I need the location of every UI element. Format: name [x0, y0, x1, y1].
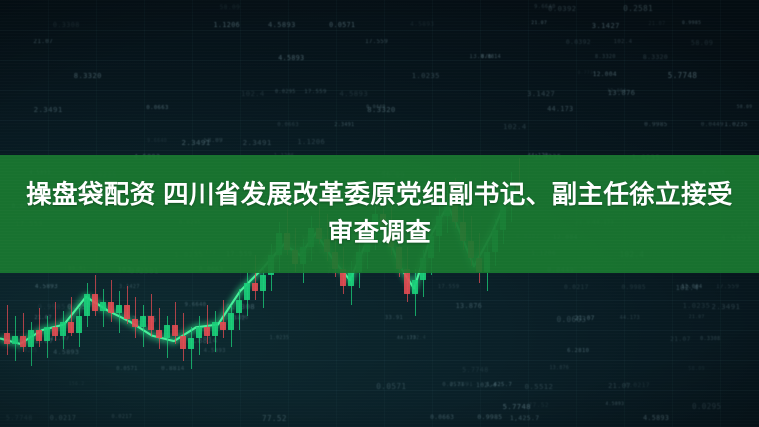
candle-body	[252, 283, 258, 291]
candle-body	[212, 322, 218, 336]
market-data-value: 8.3320	[643, 55, 668, 61]
market-data-value: 0.2581	[623, 5, 653, 13]
candle-body	[116, 305, 122, 313]
candle-body	[4, 333, 10, 344]
market-data-value: 1.1206	[214, 22, 241, 29]
market-data-value: 9.6640	[147, 139, 167, 144]
candle-body	[260, 275, 266, 292]
candle-body	[124, 305, 130, 319]
market-data-value: 44.173	[547, 106, 573, 113]
market-data-value: 1.1206	[297, 139, 325, 146]
news-banner-image: 58.099.66400.03920.25811.12063.14270.057…	[0, 0, 759, 427]
candle-body	[68, 322, 74, 333]
market-data-value: 4.5893	[606, 403, 625, 408]
market-data-value: 58.09	[691, 40, 713, 47]
market-data-value: 13.876	[549, 367, 569, 372]
market-data-value: 1.0235	[412, 72, 440, 79]
market-data-value: 0.0571	[329, 22, 355, 29]
candle-body	[44, 327, 50, 341]
market-data-value: 0.0392	[548, 5, 576, 12]
market-data-value: 17.559	[365, 40, 388, 46]
candle-wick	[223, 300, 224, 339]
market-data-value: 13.876	[469, 55, 492, 61]
market-data-value: 21.07	[575, 316, 595, 322]
market-data-value: 5.7748	[668, 72, 698, 80]
candle-body	[36, 330, 42, 341]
candle-body	[76, 316, 82, 333]
candle-body	[180, 336, 186, 350]
market-data-value: 8.3320	[595, 55, 616, 60]
market-data-value: 4.5893	[410, 22, 434, 28]
market-data-value: 12.004	[681, 285, 702, 290]
market-data-value: 0.0449	[701, 123, 724, 129]
market-data-value: 4.5893	[268, 22, 296, 29]
candle-body	[204, 327, 210, 335]
market-data-value: 0.0295	[275, 90, 296, 95]
candle-body	[220, 322, 226, 330]
market-data-value: 0.0295	[692, 403, 722, 411]
market-data-value: 0.3308	[53, 22, 80, 29]
market-data-value: 1.0235	[683, 303, 711, 310]
market-data-value: 21.07	[689, 316, 705, 321]
candle-body	[92, 294, 98, 311]
candle-body	[156, 330, 162, 338]
market-data-value: 1.0235	[724, 123, 747, 129]
market-data-value: 2.3491	[181, 139, 210, 146]
market-data-value: 0.3308	[700, 337, 720, 342]
candle-body	[236, 300, 242, 314]
market-data-value: 102.4	[241, 90, 265, 97]
market-data-value: 0.0217	[564, 285, 589, 291]
candle-body	[84, 294, 90, 316]
candle-body	[196, 327, 202, 338]
market-data-value: 4.5893	[278, 55, 304, 62]
market-data-value: 44.173	[620, 316, 640, 321]
candle-body	[28, 330, 34, 347]
candle-wick	[207, 305, 208, 344]
market-data-value: 21.07	[670, 337, 691, 343]
market-data-value: 6.2810	[567, 349, 589, 355]
market-data-value: 102.4	[503, 123, 526, 130]
headline-band: 操盘袋配资 四川省发展改革委原党组副书记、副主任徐立接受审查调查	[0, 155, 759, 273]
market-data-value: 21.07	[531, 22, 547, 27]
candle-wick	[175, 302, 176, 344]
candle-body	[172, 325, 178, 336]
candle-body	[20, 336, 26, 347]
candle-body	[244, 283, 250, 300]
market-data-value: 3.1427	[527, 90, 555, 97]
market-data-value: 58.09	[688, 367, 705, 372]
headline-container: 操盘袋配资 四川省发展改革委原党组副书记、副主任徐立接受审查调查	[19, 176, 741, 252]
market-data-value: 21.07	[648, 22, 665, 27]
market-data-value: 102.4	[614, 40, 633, 46]
market-data-value: 2.3491	[334, 123, 354, 128]
candle-body	[140, 316, 146, 327]
candle-body	[164, 325, 170, 339]
candle-wick	[159, 308, 160, 350]
market-data-value: 13.876	[608, 90, 636, 97]
market-data-value: 58.09	[737, 106, 753, 111]
candle-body	[52, 327, 58, 335]
market-data-value: 0.9985	[644, 123, 667, 129]
market-data-value: 3.1427	[592, 22, 620, 29]
candle-body	[188, 338, 194, 349]
market-data-value: 17.559	[716, 285, 739, 291]
market-data-value: 0.0663	[277, 123, 299, 128]
candle-body	[148, 316, 154, 330]
candle-body	[348, 272, 354, 286]
market-data-value: 0.0392	[566, 40, 591, 46]
market-data-value: 0.0663	[146, 106, 168, 112]
market-data-value: 12.004	[593, 72, 617, 78]
market-data-value: 0.9985	[682, 22, 701, 27]
candle-body	[100, 302, 106, 310]
market-data-value: 58.09	[220, 5, 241, 11]
candle-wick	[135, 297, 136, 339]
candle-wick	[7, 305, 8, 355]
market-data-value: 2.3491	[243, 139, 272, 146]
market-data-value: 2.3491	[34, 106, 63, 113]
candle-body	[60, 322, 66, 336]
candle-wick	[111, 280, 112, 322]
market-data-value: 8.3320	[367, 106, 395, 113]
market-data-value: 2.3491	[712, 303, 741, 310]
candle-body	[108, 302, 114, 313]
candle-body	[412, 280, 418, 294]
candle-body	[132, 319, 138, 327]
market-data-value: 4.5893	[643, 415, 669, 422]
market-data-value: 21.07	[33, 40, 53, 46]
market-data-value: 0.0217	[625, 383, 650, 389]
market-data-value: 8.3320	[74, 72, 102, 79]
page-title: 操盘袋配资 四川省发展改革委原党组副书记、副主任徐立接受审查调查	[19, 176, 741, 252]
market-data-value: 0.9985	[621, 285, 645, 291]
candle-body	[12, 336, 18, 344]
candle-body	[228, 313, 234, 330]
market-data-value: 4.5893	[339, 90, 368, 97]
market-data-value: 17.559	[304, 90, 327, 96]
